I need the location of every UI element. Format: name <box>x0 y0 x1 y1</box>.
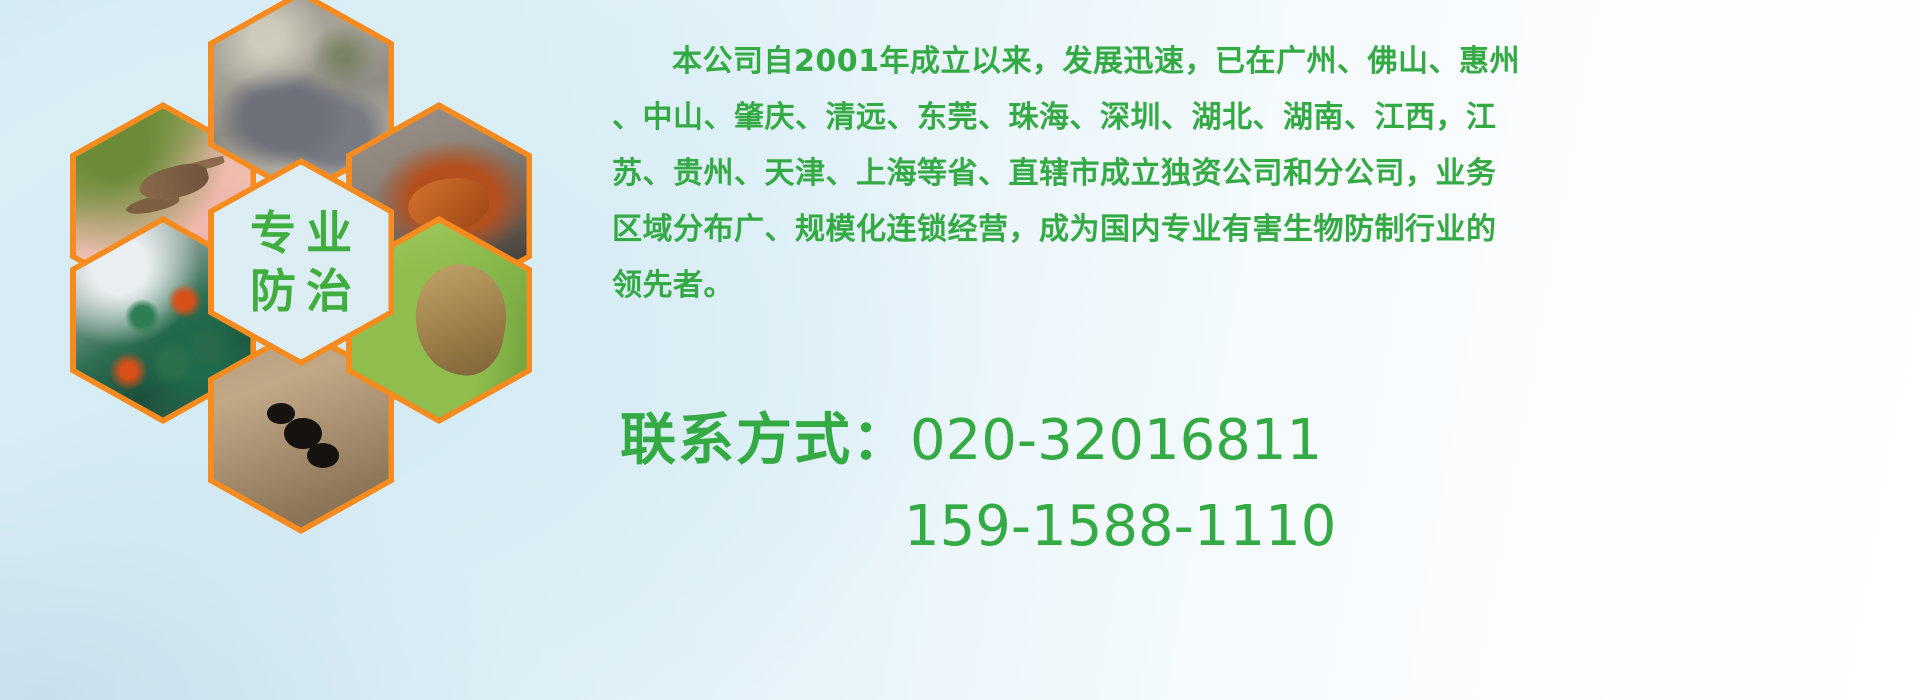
description-line-1: 本公司自2001年成立以来，发展迅速，已在广州、佛山、惠州 <box>612 34 1912 90</box>
description-line-4: 区域分布广、规模化连锁经营，成为国内专业有害生物防制行业的 <box>612 202 1912 258</box>
honeycomb-emblem: 专业 防治 <box>60 0 620 566</box>
company-description: 本公司自2001年成立以来，发展迅速，已在广州、佛山、惠州 、中山、肇庆、清远、… <box>612 34 1912 314</box>
description-line-5: 领先者。 <box>612 258 1912 314</box>
description-line-3: 苏、贵州、天津、上海等省、直辖市成立独资公司和分公司，业务 <box>612 146 1912 202</box>
contact-block: 联系方式：020-32016811 159-1588-1110 <box>620 398 1900 570</box>
contact-label: 联系方式： <box>620 408 910 473</box>
emblem-title-line2: 防治 <box>240 267 362 315</box>
phone-secondary[interactable]: 159-1588-1110 <box>904 494 1336 559</box>
description-line-2: 、中山、肇庆、清远、东莞、珠海、深圳、湖北、湖南、江西，江 <box>612 90 1912 146</box>
phone-primary[interactable]: 020-32016811 <box>910 408 1322 473</box>
contact-primary-row: 联系方式：020-32016811 <box>620 398 1900 484</box>
banner-canvas: 专业 防治 本公司自2001年成立以来，发展迅速，已在广州、佛山、惠州 、中山、… <box>0 0 1920 700</box>
contact-secondary-row: 159-1588-1110 <box>620 484 1900 570</box>
emblem-title-line1: 专业 <box>240 209 362 257</box>
